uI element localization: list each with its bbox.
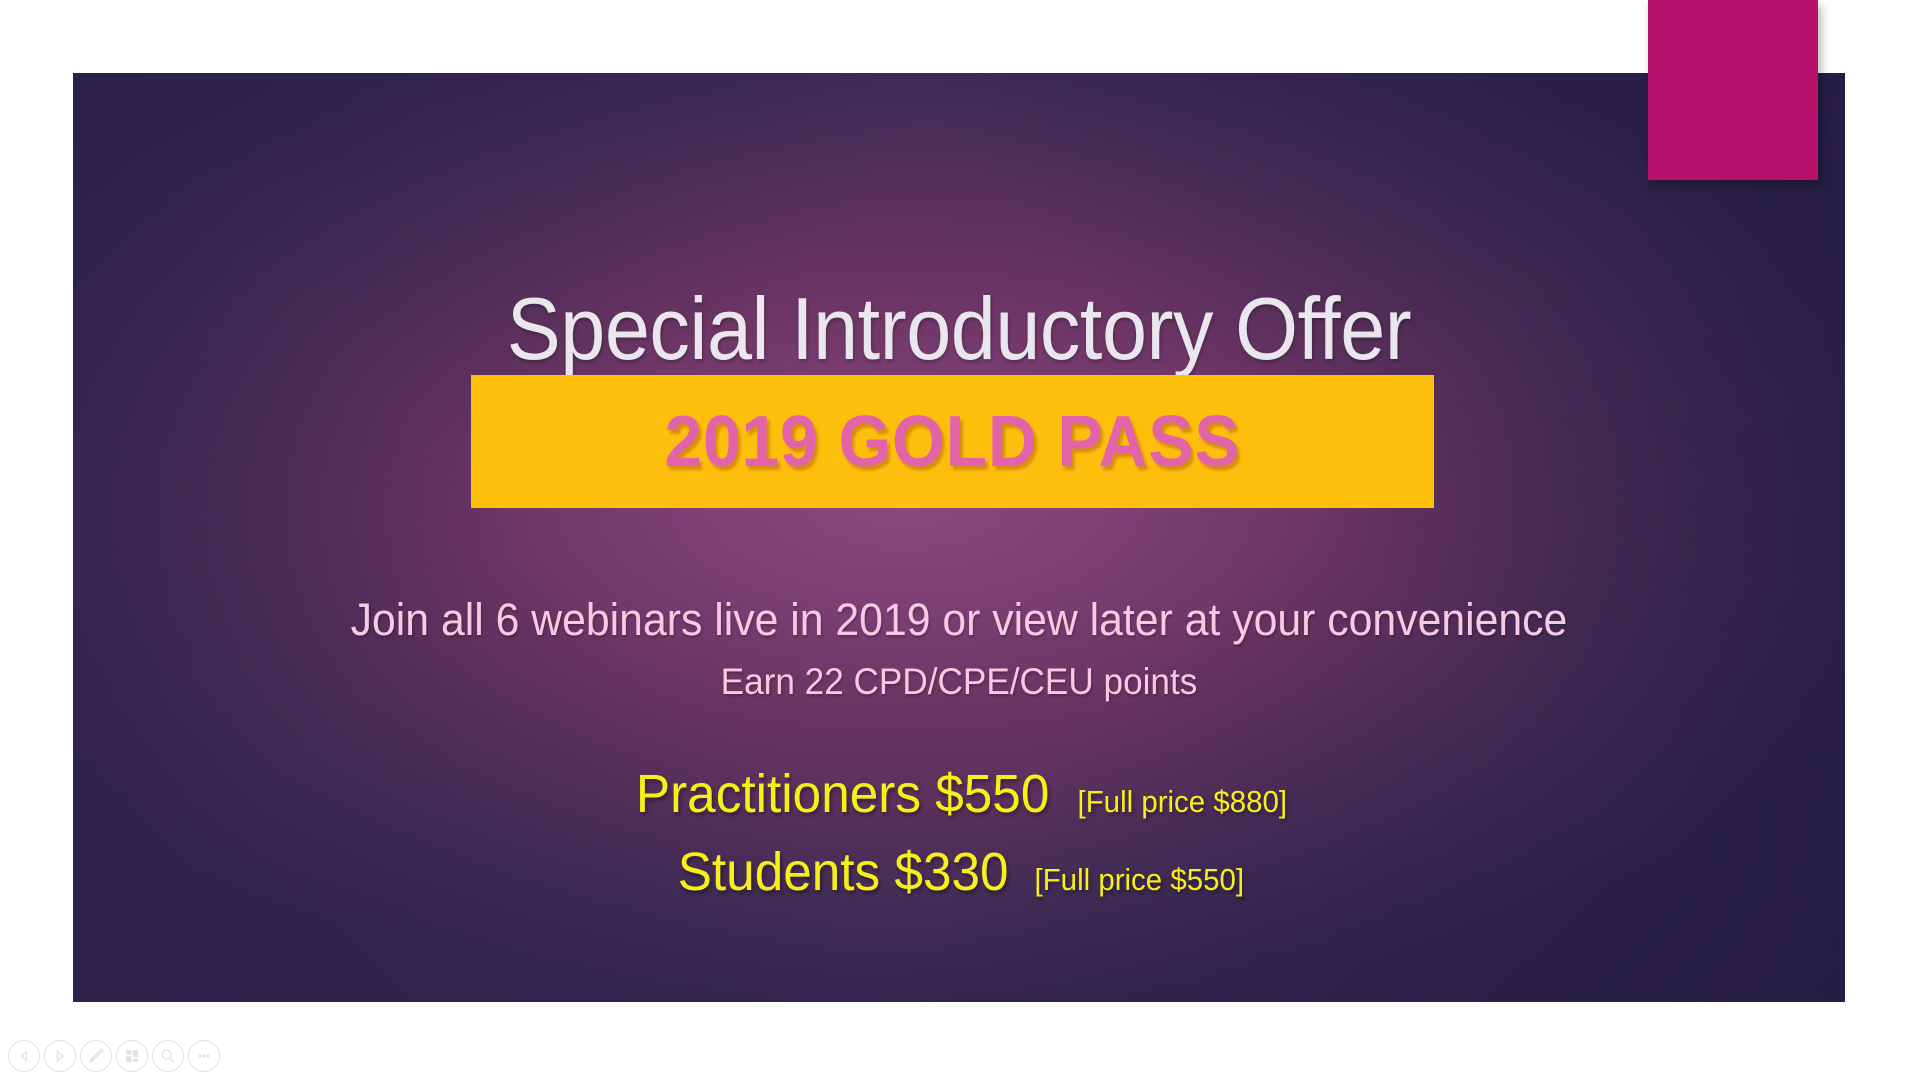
grid-slides-icon: [123, 1047, 141, 1065]
slideshow-root: Special Introductory Offer 2019 GOLD PAS…: [0, 0, 1920, 1080]
gold-pass-banner: 2019 GOLD PASS: [471, 375, 1434, 508]
price-row-practitioners: Practitioners $550[Full price $880]: [73, 767, 1845, 821]
magnifier-icon: [159, 1047, 177, 1065]
tagline-primary: Join all 6 webinars live in 2019 or view…: [117, 597, 1800, 642]
page-title: Special Introductory Offer: [144, 285, 1774, 373]
more-options-button[interactable]: [188, 1040, 220, 1072]
pen-icon: [86, 1046, 106, 1066]
all-slides-button[interactable]: [116, 1040, 148, 1072]
slide-canvas[interactable]: Special Introductory Offer 2019 GOLD PAS…: [73, 73, 1845, 1002]
presenter-toolbar: [8, 1040, 220, 1072]
triangle-left-icon: [16, 1048, 32, 1064]
price-practitioners-amount: Practitioners $550: [636, 767, 1049, 821]
price-students-amount: Students $330: [677, 845, 1008, 899]
next-slide-button[interactable]: [44, 1040, 76, 1072]
price-row-students: Students $330[Full price $550]: [73, 845, 1845, 899]
previous-slide-button[interactable]: [8, 1040, 40, 1072]
price-practitioners-full: [Full price $880]: [1078, 786, 1288, 817]
triangle-right-icon: [52, 1048, 68, 1064]
decorative-accent-bar: [1648, 0, 1818, 180]
tagline-secondary: Earn 22 CPD/CPE/CEU points: [117, 663, 1800, 700]
gold-pass-banner-label: 2019 GOLD PASS: [664, 406, 1240, 478]
slide-content: Special Introductory Offer 2019 GOLD PAS…: [73, 73, 1845, 1002]
pen-tools-button[interactable]: [80, 1040, 112, 1072]
ellipsis-icon: [195, 1047, 213, 1065]
zoom-into-slide-button[interactable]: [152, 1040, 184, 1072]
price-students-full: [Full price $550]: [1034, 864, 1244, 895]
